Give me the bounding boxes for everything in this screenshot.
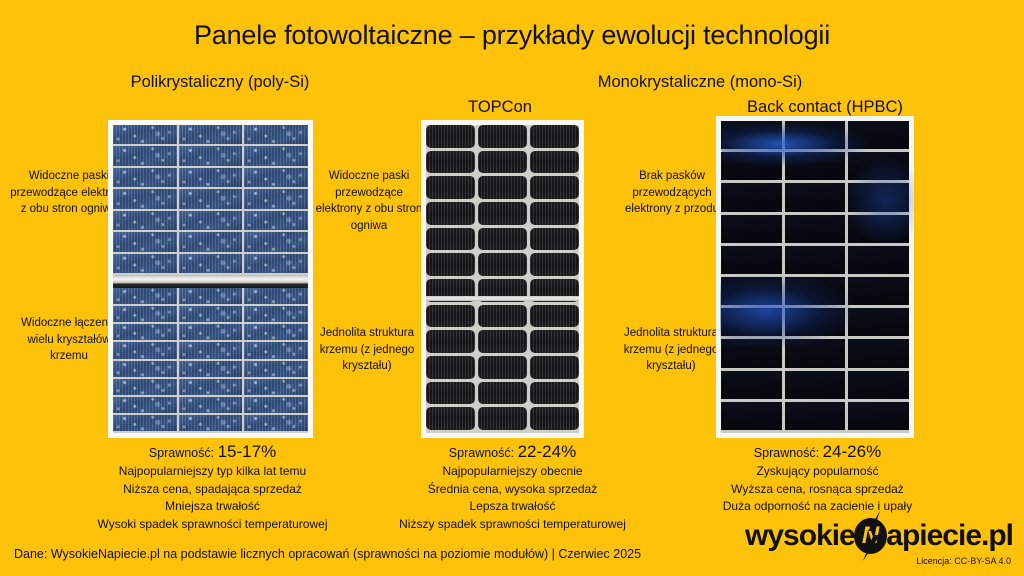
source-note: Dane: WysokieNapiecie.pl na podstawie li… (14, 547, 641, 561)
efficiency-line-topcon: Sprawność: 22-24% (375, 442, 650, 463)
group-heading-mono: Monokrystaliczne (mono-Si) (490, 73, 910, 92)
efficiency-line-hpbc: Sprawność: 24-26% (680, 442, 955, 463)
poly-lower-half (113, 288, 308, 433)
efficiency-label: Sprawność: (754, 446, 819, 460)
wysokienapiecie-logo[interactable]: wysokie N apiecie.pl Licencja: CC-BY-SA … (745, 518, 1013, 570)
spec-bullet: Zyskujący popularność (680, 463, 955, 481)
efficiency-value: 15-17% (218, 442, 277, 461)
spec-bullet: Wyższa cena, rosnąca sprzedaż (680, 481, 955, 499)
hpbc-cell-grid (721, 121, 909, 433)
annotation-hpbc-uniform: Jednolita struktura krzemu (z jednego kr… (615, 325, 727, 375)
spec-block-poly: Sprawność: 15-17% Najpopularniejszy typ … (75, 442, 350, 533)
spec-bullet: Najpopularniejszy obecnie (375, 463, 650, 481)
spec-bullet: Wysoki spadek sprawności temperaturowej (75, 516, 350, 534)
topcon-cell-grid (426, 125, 579, 433)
column-heading-poly: Polikrystaliczny (poly-Si) (60, 73, 380, 92)
infographic-root: Panele fotowoltaiczne – przykłady ewoluc… (0, 0, 1024, 576)
annotation-hpbc-nobusbars: Brak pasków przewodzących elektrony z pr… (620, 168, 724, 218)
lightning-bolt-icon: N (854, 518, 888, 554)
license-note: Licencja: CC-BY-SA 4.0 (916, 556, 1011, 566)
logo-text-left: wysokie (745, 521, 855, 551)
spec-bullet: Najpopularniejszy typ kilka lat temu (75, 463, 350, 481)
efficiency-line-poly: Sprawność: 15-17% (75, 442, 350, 463)
column-heading-topcon: TOPCon (400, 98, 600, 117)
topcon-center-busbar (426, 296, 579, 301)
spec-block-topcon: Sprawność: 22-24% Najpopularniejszy obec… (375, 442, 650, 533)
panel-image-poly (108, 120, 313, 438)
spec-bullet: Lepsza trwałość (375, 498, 650, 516)
annotation-topcon-busbars: Widoczne paski przewodzące elektrony z o… (315, 168, 423, 234)
efficiency-label: Sprawność: (149, 446, 214, 460)
logo-text-right: apiecie.pl (886, 521, 1013, 551)
efficiency-value: 24-26% (823, 442, 882, 461)
poly-upper-half (113, 125, 308, 275)
spec-bullet: Duża odporność na zacienie i upały (680, 498, 955, 516)
page-title: Panele fotowoltaiczne – przykłady ewoluc… (0, 20, 1024, 51)
efficiency-label: Sprawność: (449, 446, 514, 460)
efficiency-value: 22-24% (518, 442, 577, 461)
poly-center-busbar (113, 275, 308, 288)
panel-image-topcon (421, 120, 584, 438)
panel-image-hpbc (716, 116, 914, 438)
annotation-topcon-uniform: Jednolita struktura krzemu (z jednego kr… (310, 325, 424, 375)
spec-bullet: Niższa cena, spadająca sprzedaż (75, 481, 350, 499)
spec-block-hpbc: Sprawność: 24-26% Zyskujący popularność … (680, 442, 955, 516)
column-heading-hpbc: Back contact (HPBC) (700, 98, 950, 117)
spec-bullet: Niższy spadek sprawności temperaturowej (375, 516, 650, 534)
spec-bullet: Mniejsza trwałość (75, 498, 350, 516)
spec-bullet: Średnia cena, wysoka sprzedaż (375, 481, 650, 499)
